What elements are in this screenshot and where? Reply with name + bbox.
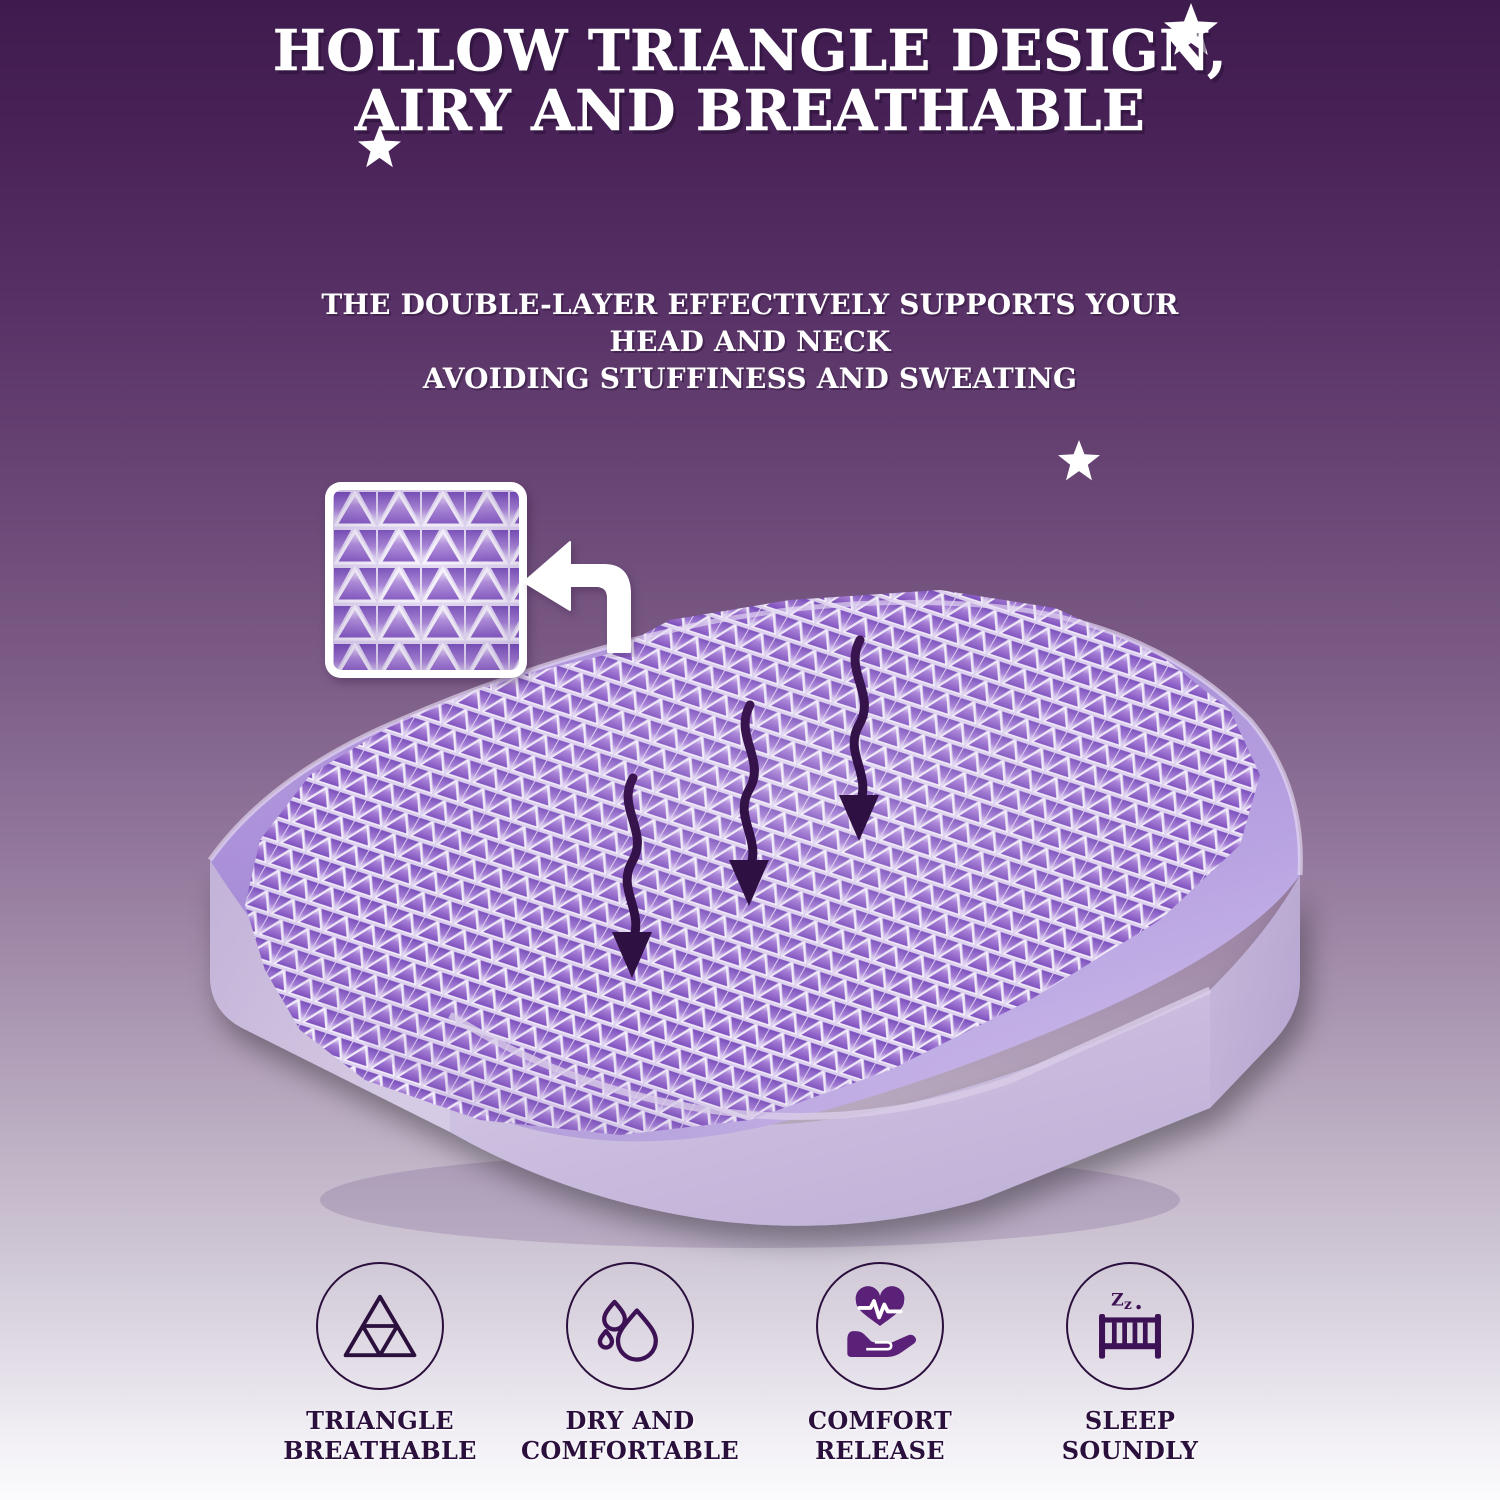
feature-label-sleep-soundly: SLEEP SOUNDLY [1062,1406,1199,1466]
headline-line-1: HOLLOW TRIANGLE DESIGN, [0,22,1500,82]
curved-arrow-shape [524,542,630,652]
water-drops-icon-circle [566,1262,694,1390]
feature-item-triangle-breathable: TRIANGLE BREATHABLE [280,1262,480,1492]
feature-label-triangle-breathable: TRIANGLE BREATHABLE [283,1406,476,1466]
svg-text:z: z [1124,1297,1132,1313]
feature-item-comfort-release: COMFORT RELEASE [780,1262,980,1492]
feature-label-line: RELEASE [808,1436,952,1466]
crib-sleep-icon: Z z [1087,1283,1173,1369]
star-decoration-mid-right [1058,440,1100,482]
feature-label-line: BREATHABLE [283,1436,476,1466]
feature-label-line: DRY AND [521,1406,739,1436]
subhead-line-2: HEAD AND NECK [0,323,1500,360]
svg-text:Z: Z [1111,1290,1124,1310]
texture-zoom-inset [325,482,527,678]
feature-benefits-row: TRIANGLE BREATHABLE DRY AND COMFORTABLE [280,1262,1230,1492]
feature-item-dry-comfortable: DRY AND COMFORTABLE [530,1262,730,1492]
feature-label-dry-comfortable: DRY AND COMFORTABLE [521,1406,739,1466]
subhead-line-1: THE DOUBLE-LAYER EFFECTIVELY SUPPORTS YO… [0,286,1500,323]
triangles-icon [337,1283,423,1369]
feature-label-line: COMFORT [808,1406,952,1436]
heart-in-hand-icon [837,1283,923,1369]
feature-label-line: SOUNDLY [1062,1436,1199,1466]
feature-label-line: TRIANGLE [283,1406,476,1436]
page-subheadline: THE DOUBLE-LAYER EFFECTIVELY SUPPORTS YO… [0,286,1500,398]
crib-sleep-icon-circle: Z z [1066,1262,1194,1390]
feature-item-sleep-soundly: Z z SLEEP SOUNDLY [1030,1262,1230,1492]
feature-label-line: SLEEP [1062,1406,1199,1436]
triangles-icon-circle [316,1262,444,1390]
feature-label-comfort-release: COMFORT RELEASE [808,1406,952,1466]
subhead-line-3: AVOIDING STUFFINESS AND SWEATING [0,360,1500,397]
page-headline: HOLLOW TRIANGLE DESIGN, AIRY AND BREATHA… [0,22,1500,142]
headline-line-2: AIRY AND BREATHABLE [0,82,1500,142]
curved-arrow-to-inset [512,522,652,657]
texture-zoom-surface [333,490,519,670]
water-drops-icon [587,1283,673,1369]
feature-label-line: COMFORTABLE [521,1436,739,1466]
heart-in-hand-icon-circle [816,1262,944,1390]
